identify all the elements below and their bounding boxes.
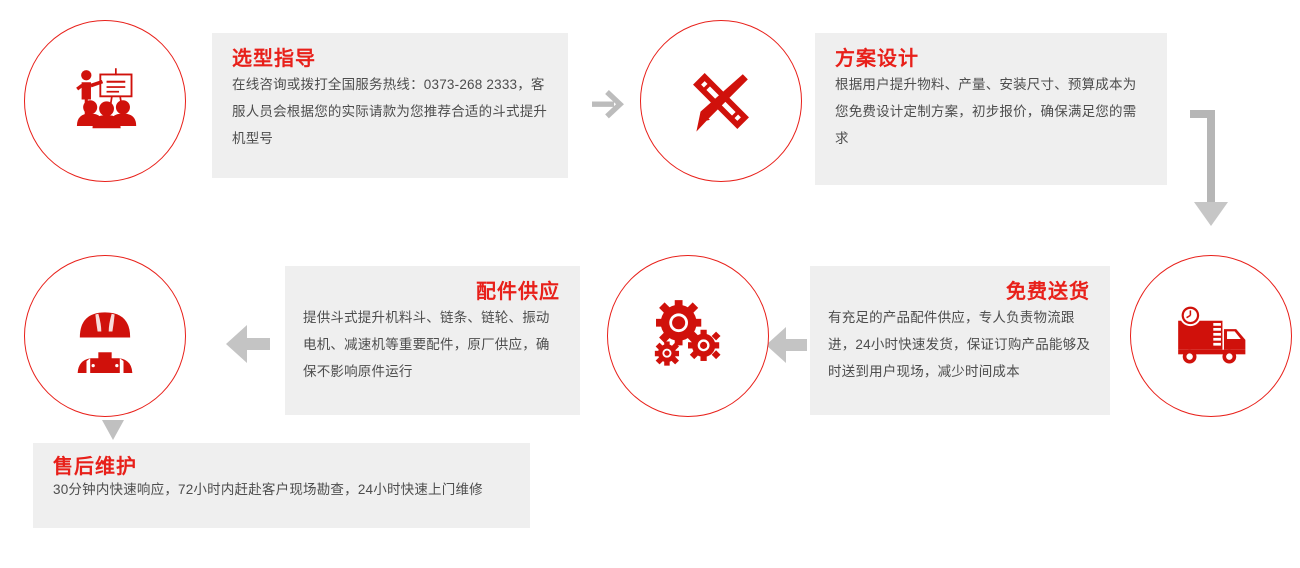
gears-icon	[649, 297, 727, 375]
step-1-icon-circle	[24, 20, 186, 182]
connector-arrow-left-1	[762, 318, 810, 372]
connector-arrow-right	[590, 85, 628, 125]
step-4-card: 配件供应 提供斗式提升机料斗、链条、链轮、振动电机、减速机等重要配件，原厂供应，…	[285, 266, 580, 415]
step-5-body: 30分钟内快速响应，72小时内赶赴客户现场勘查，24小时快速上门维修	[53, 479, 512, 502]
step-2-heading: 方案设计	[835, 47, 1149, 71]
step-4-heading: 配件供应	[303, 280, 560, 304]
worker-helmet-icon	[68, 299, 142, 373]
step-4-icon-circle	[607, 255, 769, 417]
step-1-heading: 选型指导	[232, 47, 550, 71]
step-3-icon-circle	[1130, 255, 1292, 417]
step-1-body: 在线咨询或拨打全国服务热线：0373-268 2333，客服人员会根据您的实际请…	[232, 71, 550, 152]
step-5-card: 售后维护 30分钟内快速响应，72小时内赶赴客户现场勘查，24小时快速上门维修	[33, 443, 530, 528]
delivery-truck-clock-icon	[1169, 301, 1253, 371]
connector-arrow-elbow-down	[1168, 82, 1238, 234]
step-1-card: 选型指导 在线咨询或拨打全国服务热线：0373-268 2333，客服人员会根据…	[212, 33, 568, 178]
step-3-card: 免费送货 有充足的产品配件供应，专人负责物流跟进，24小时快速发货，保证订购产品…	[810, 266, 1110, 415]
step-5-heading: 售后维护	[53, 455, 512, 479]
pencil-ruler-icon	[683, 63, 759, 139]
step-4-body: 提供斗式提升机料斗、链条、链轮、振动电机、减速机等重要配件，原厂供应，确保不影响…	[303, 304, 560, 385]
step-2-icon-circle	[640, 20, 802, 182]
step-2-card: 方案设计 根据用户提升物料、产量、安装尺寸、预算成本为您免费设计定制方案，初步报…	[815, 33, 1167, 185]
step-5-icon-circle	[24, 255, 186, 417]
connector-arrow-left-2	[222, 316, 274, 372]
step-3-body: 有充足的产品配件供应，专人负责物流跟进，24小时快速发货，保证订购产品能够及时送…	[828, 304, 1090, 385]
process-flow-diagram: 选型指导 在线咨询或拨打全国服务热线：0373-268 2333，客服人员会根据…	[0, 0, 1300, 568]
presentation-training-icon	[66, 62, 144, 140]
connector-arrow-down-triangle	[100, 418, 126, 444]
step-2-body: 根据用户提升物料、产量、安装尺寸、预算成本为您免费设计定制方案，初步报价，确保满…	[835, 71, 1149, 152]
step-3-heading: 免费送货	[828, 280, 1090, 304]
